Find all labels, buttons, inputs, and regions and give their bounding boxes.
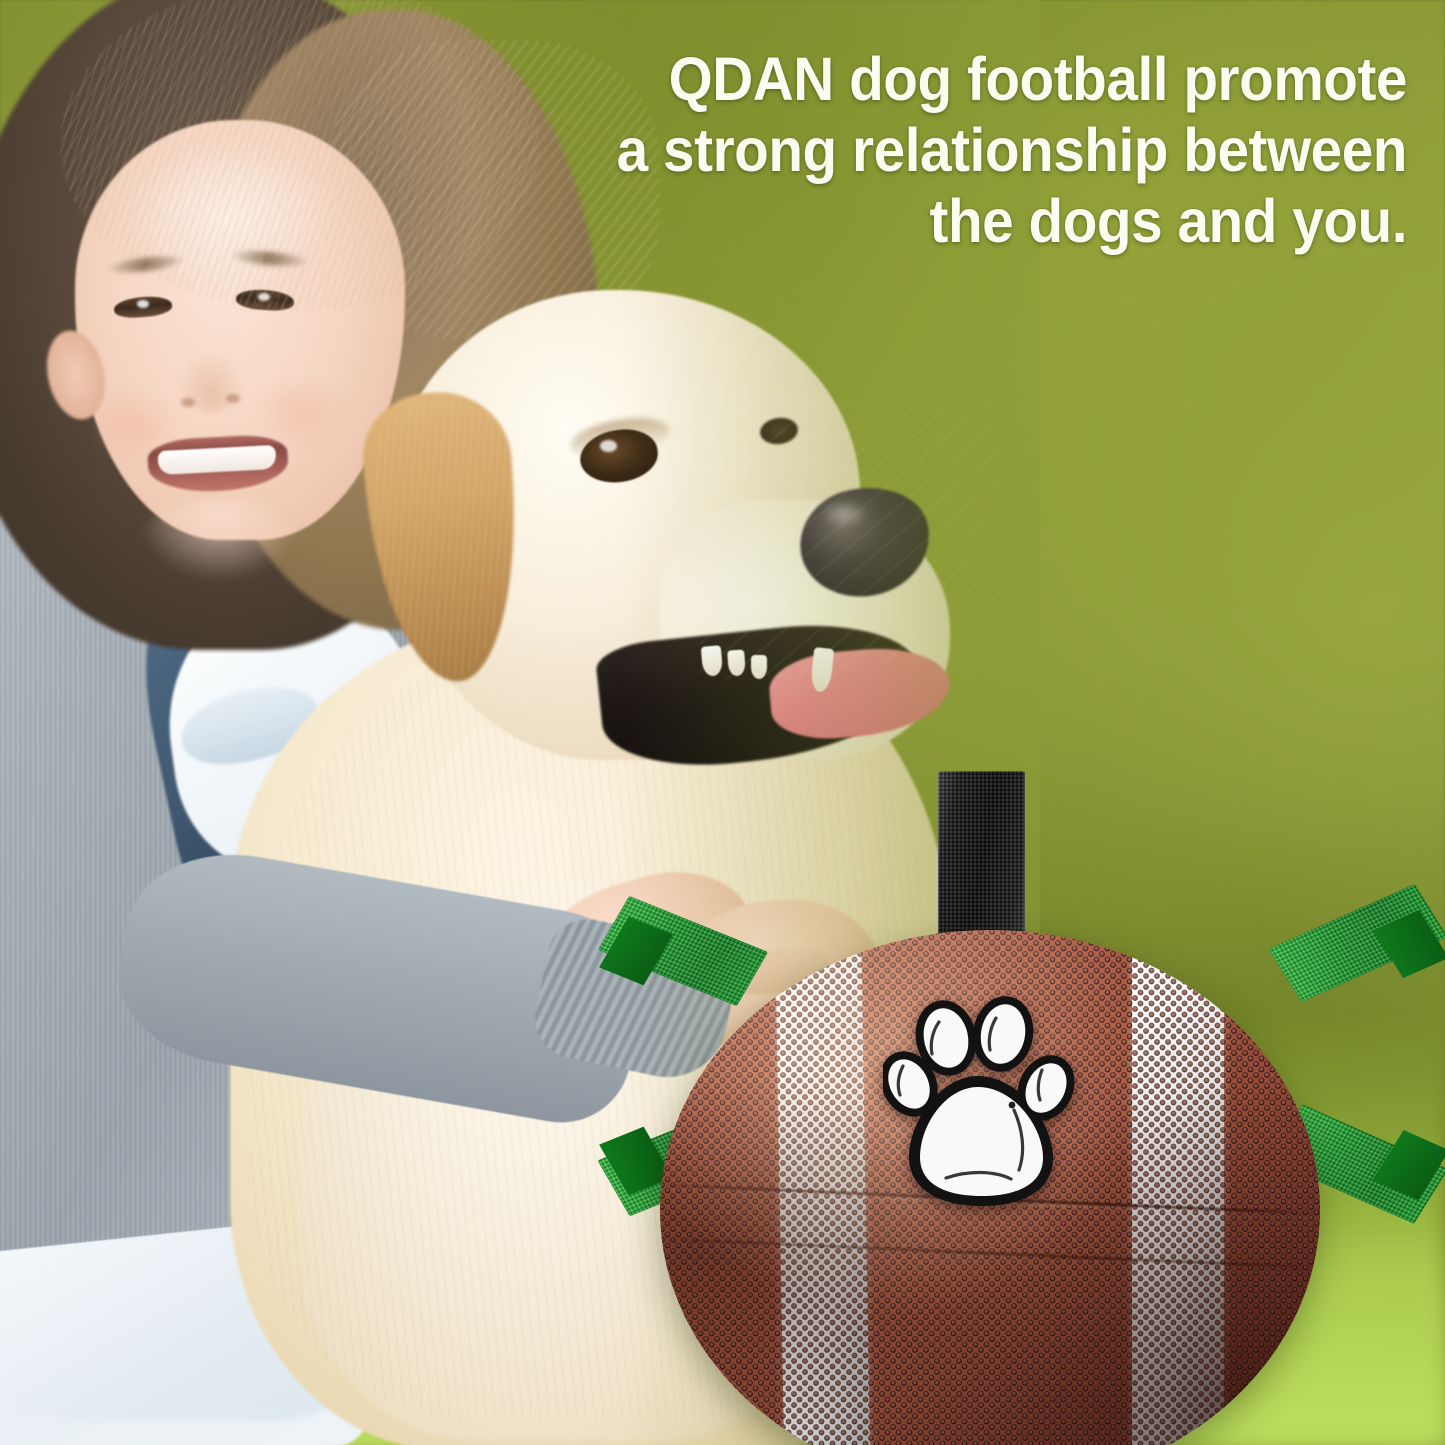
black-grab-strap — [938, 771, 1025, 953]
girl-nostril-left — [181, 398, 195, 407]
girl-cheek-right — [256, 378, 346, 448]
girl-chin — [140, 500, 300, 580]
product-image-canvas: QDAN dog football promote a strong relat… — [0, 0, 1445, 1445]
headline-text: QDAN dog football promote a strong relat… — [570, 44, 1407, 257]
dog-whiskers — [700, 400, 1000, 680]
dog-football-toy — [600, 760, 1445, 1445]
girl-nostril-right — [226, 394, 240, 403]
dog-eye-glint — [600, 440, 617, 452]
girl-eye-glint-left — [137, 300, 149, 308]
paw-print-icon — [883, 992, 1079, 1216]
